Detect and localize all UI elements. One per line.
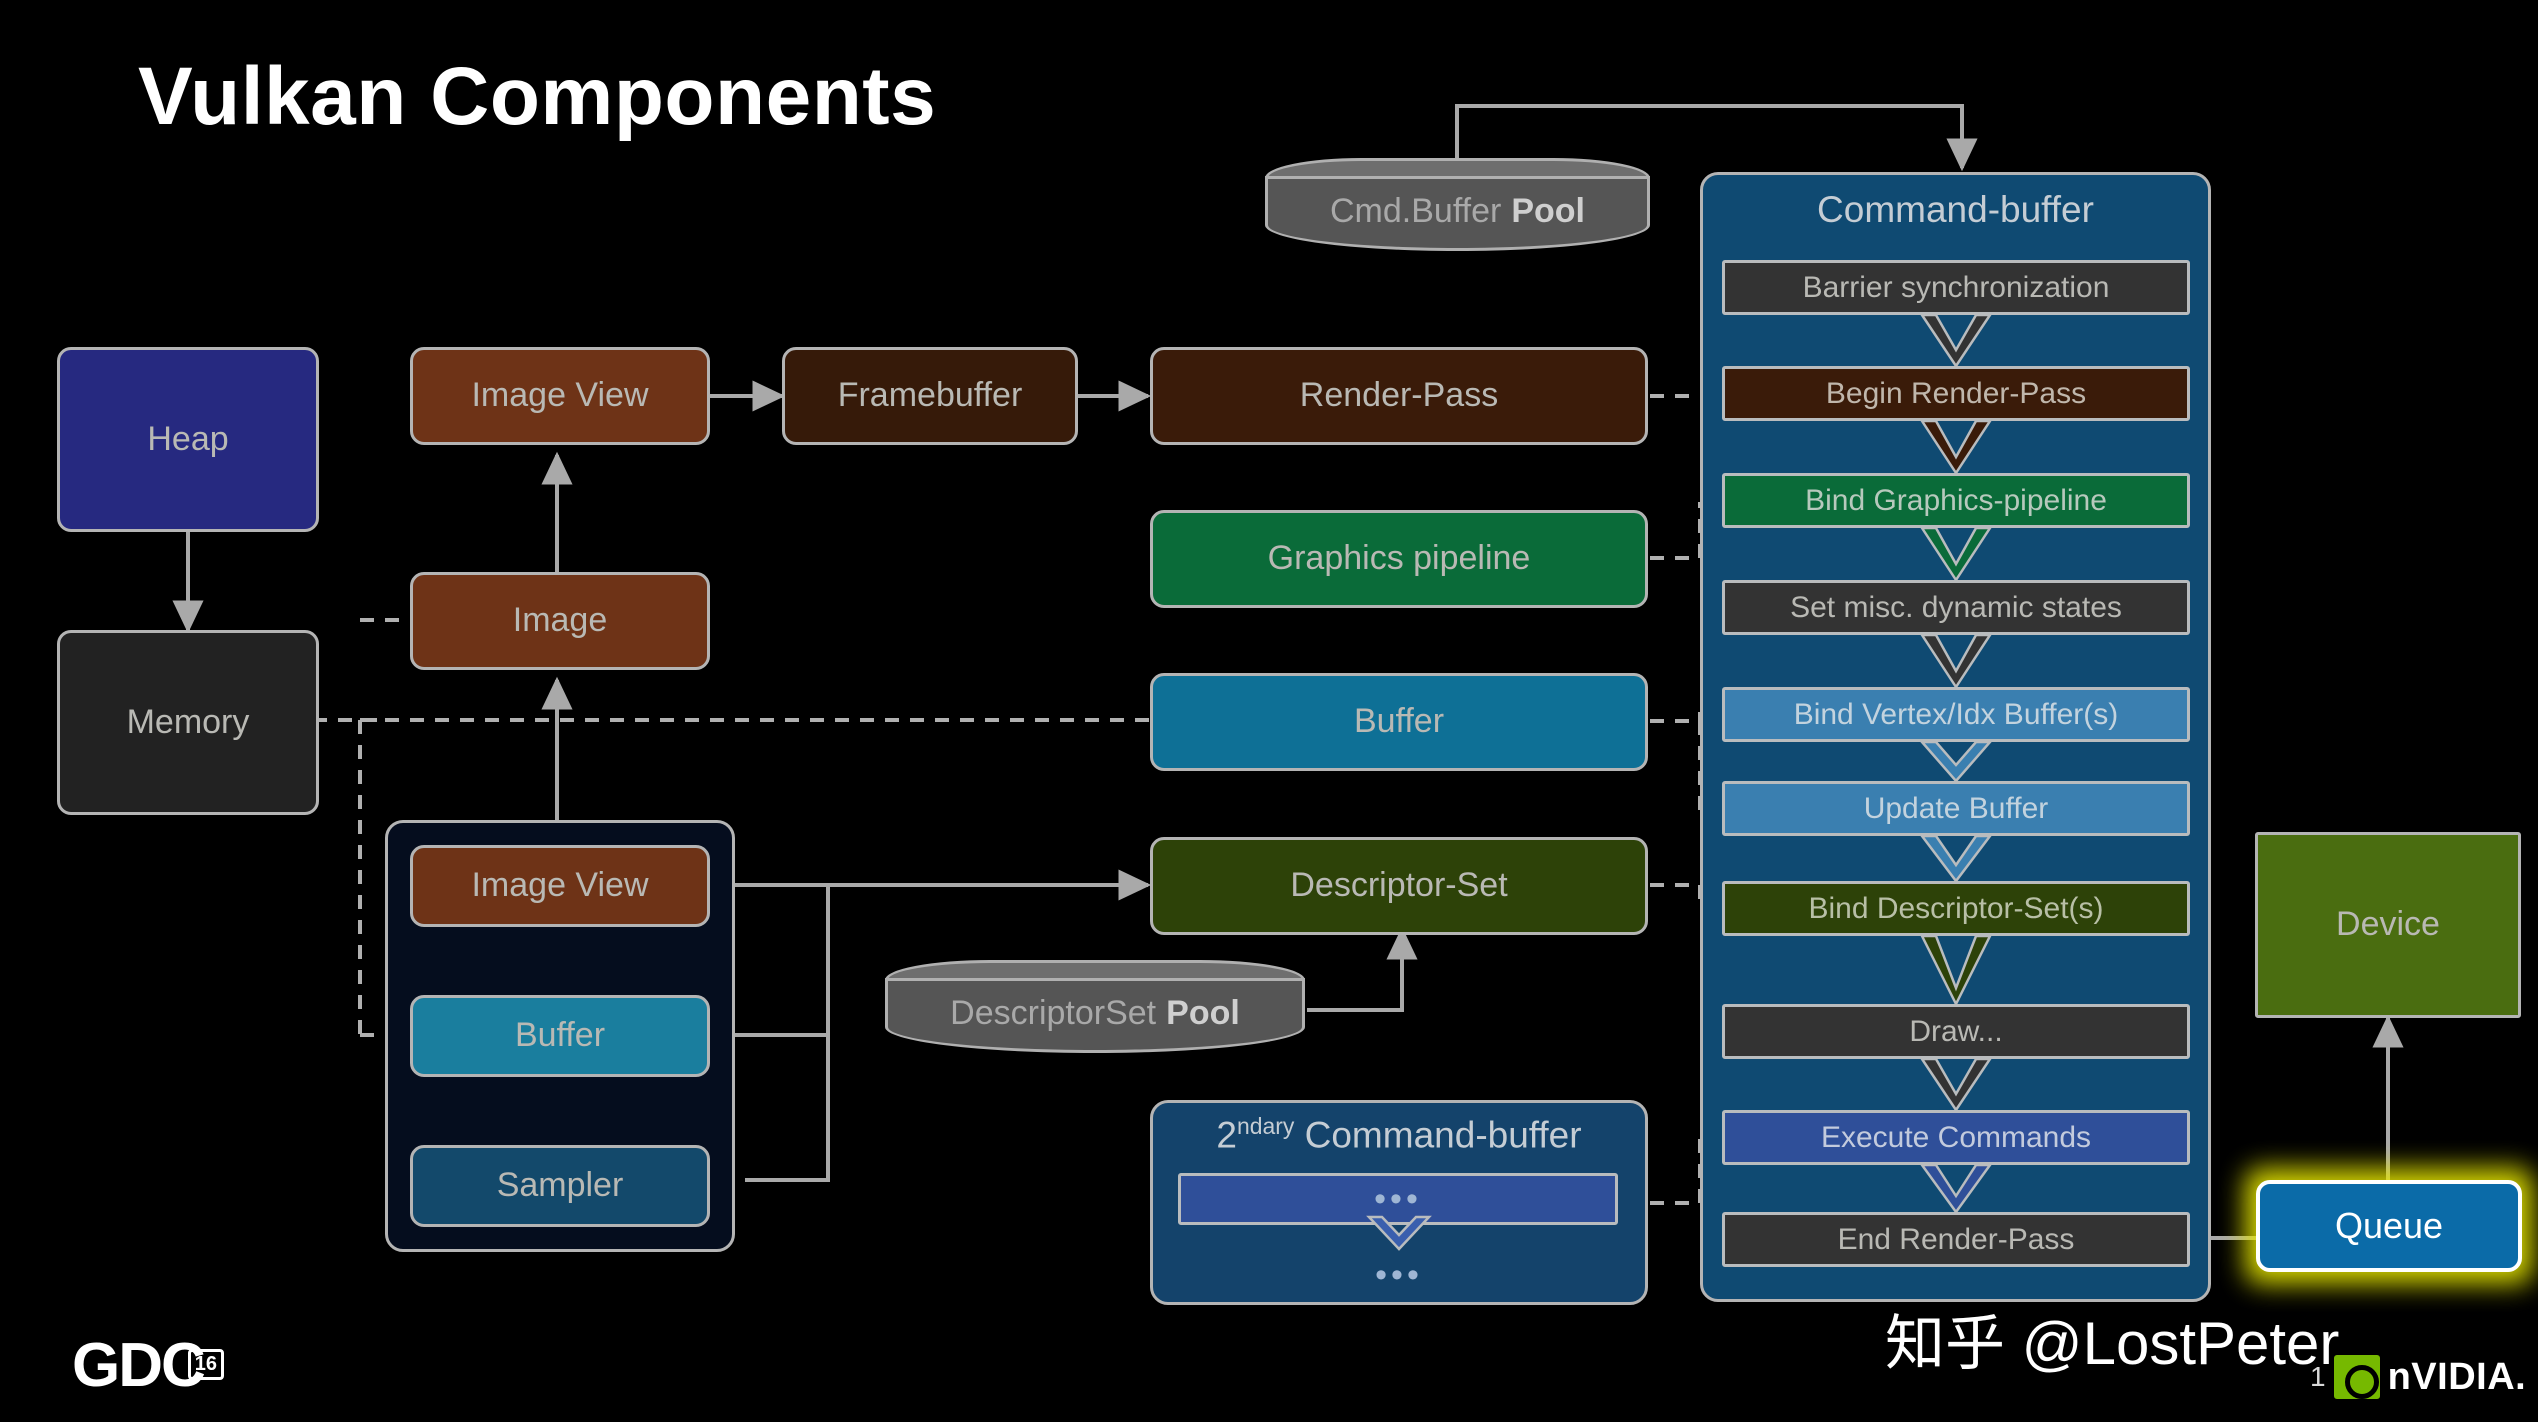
cmd-step-6[interactable]: Bind Descriptor-Set(s) xyxy=(1722,881,2190,936)
secondary-title-rest: Command-buffer xyxy=(1294,1114,1581,1155)
cmd-step-2-label: Bind Graphics-pipeline xyxy=(1805,484,2107,518)
cmd-step-9-label: End Render-Pass xyxy=(1838,1223,2075,1257)
cmd-step-8[interactable]: Execute Commands xyxy=(1722,1110,2190,1165)
node-buffer-mid[interactable]: Buffer xyxy=(1150,673,1648,771)
node-image-view-top-label: Image View xyxy=(471,377,648,414)
cmd-step-8-label: Execute Commands xyxy=(1821,1121,2091,1155)
cmd-step-9[interactable]: End Render-Pass xyxy=(1722,1212,2190,1267)
secondary-inner-chip[interactable]: ••• xyxy=(1178,1173,1618,1225)
cmd-step-5-label: Update Buffer xyxy=(1864,792,2049,826)
cmd-step-3[interactable]: Set misc. dynamic states xyxy=(1722,580,2190,635)
node-buffer-resource[interactable]: Buffer xyxy=(410,995,710,1077)
node-queue-label: Queue xyxy=(2335,1205,2443,1247)
command-buffer-title: Command-buffer xyxy=(1703,189,2208,231)
gdc-logo: GDC16 xyxy=(72,1330,210,1401)
node-sampler-resource[interactable]: Sampler xyxy=(410,1145,710,1227)
secondary-command-buffer-title: 2ndary Command-buffer xyxy=(1153,1113,1645,1156)
cmd-step-2[interactable]: Bind Graphics-pipeline xyxy=(1722,473,2190,528)
node-heap-label: Heap xyxy=(147,421,228,458)
cmd-buffer-pool[interactable]: Cmd.Buffer Pool xyxy=(1265,158,1650,251)
secondary-outer-dots: ••• xyxy=(1150,1258,1648,1292)
node-sampler-resource-label: Sampler xyxy=(497,1167,624,1204)
node-buffer-mid-label: Buffer xyxy=(1354,703,1444,740)
nvidia-wordmark: nVIDIA. xyxy=(2388,1356,2527,1399)
page-title: Vulkan Components xyxy=(138,50,936,144)
node-render-pass-label: Render-Pass xyxy=(1300,377,1498,414)
node-memory[interactable]: Memory xyxy=(57,630,319,815)
cmd-step-0-label: Barrier synchronization xyxy=(1803,271,2110,305)
node-descriptor-set[interactable]: Descriptor-Set xyxy=(1150,837,1648,935)
cmd-step-5[interactable]: Update Buffer xyxy=(1722,781,2190,836)
nvidia-logo-prefix: 1 xyxy=(2310,1361,2326,1393)
cmd-buffer-pool-prefix: Cmd.Buffer xyxy=(1330,192,1501,231)
nvidia-logo: 1 nVIDIA. xyxy=(2310,1355,2526,1399)
cmd-step-7[interactable]: Draw... xyxy=(1722,1004,2190,1059)
node-buffer-resource-label: Buffer xyxy=(515,1017,605,1054)
node-render-pass[interactable]: Render-Pass xyxy=(1150,347,1648,445)
node-graphics-pipeline[interactable]: Graphics pipeline xyxy=(1150,510,1648,608)
secondary-title-sup: ndary xyxy=(1237,1113,1294,1139)
node-heap[interactable]: Heap xyxy=(57,347,319,532)
node-image-view-resource-label: Image View xyxy=(471,867,648,904)
cmd-step-0[interactable]: Barrier synchronization xyxy=(1722,260,2190,315)
node-image[interactable]: Image xyxy=(410,572,710,670)
node-queue[interactable]: Queue xyxy=(2256,1180,2522,1272)
node-framebuffer-label: Framebuffer xyxy=(838,377,1023,414)
node-image-view-resource[interactable]: Image View xyxy=(410,845,710,927)
node-device[interactable]: Device xyxy=(2255,832,2521,1018)
node-memory-label: Memory xyxy=(127,704,250,741)
descriptor-set-pool-bold: Pool xyxy=(1166,994,1240,1033)
node-device-label: Device xyxy=(2336,906,2440,943)
cmd-step-7-label: Draw... xyxy=(1909,1015,2002,1049)
node-image-view-top[interactable]: Image View xyxy=(410,347,710,445)
gdc-logo-text: GDC xyxy=(72,1331,204,1400)
cmd-buffer-pool-label: Cmd.Buffer Pool xyxy=(1265,158,1650,251)
watermark: 知乎 @LostPeter xyxy=(1885,1295,2339,1382)
node-image-label: Image xyxy=(513,602,608,639)
cmd-buffer-pool-bold: Pool xyxy=(1511,192,1585,231)
descriptor-set-pool-prefix: DescriptorSet xyxy=(950,994,1156,1033)
cmd-step-4[interactable]: Bind Vertex/Idx Buffer(s) xyxy=(1722,687,2190,742)
node-graphics-pipeline-label: Graphics pipeline xyxy=(1268,540,1531,577)
descriptor-set-pool[interactable]: DescriptorSet Pool xyxy=(885,960,1305,1053)
node-descriptor-set-label: Descriptor-Set xyxy=(1290,867,1507,904)
nvidia-eye-icon xyxy=(2334,1355,2380,1399)
cmd-step-3-label: Set misc. dynamic states xyxy=(1790,591,2122,625)
cmd-step-4-label: Bind Vertex/Idx Buffer(s) xyxy=(1794,698,2119,732)
cmd-step-6-label: Bind Descriptor-Set(s) xyxy=(1808,892,2103,926)
secondary-title-prefix: 2 xyxy=(1216,1114,1237,1155)
cmd-step-1-label: Begin Render-Pass xyxy=(1826,377,2086,411)
node-framebuffer[interactable]: Framebuffer xyxy=(782,347,1078,445)
gdc-logo-year: 16 xyxy=(188,1349,224,1380)
secondary-inner-dots: ••• xyxy=(1374,1182,1422,1216)
slide-canvas: Vulkan Components Heap Memory Image View… xyxy=(0,0,2538,1422)
descriptor-set-pool-label: DescriptorSet Pool xyxy=(885,960,1305,1053)
cmd-step-1[interactable]: Begin Render-Pass xyxy=(1722,366,2190,421)
